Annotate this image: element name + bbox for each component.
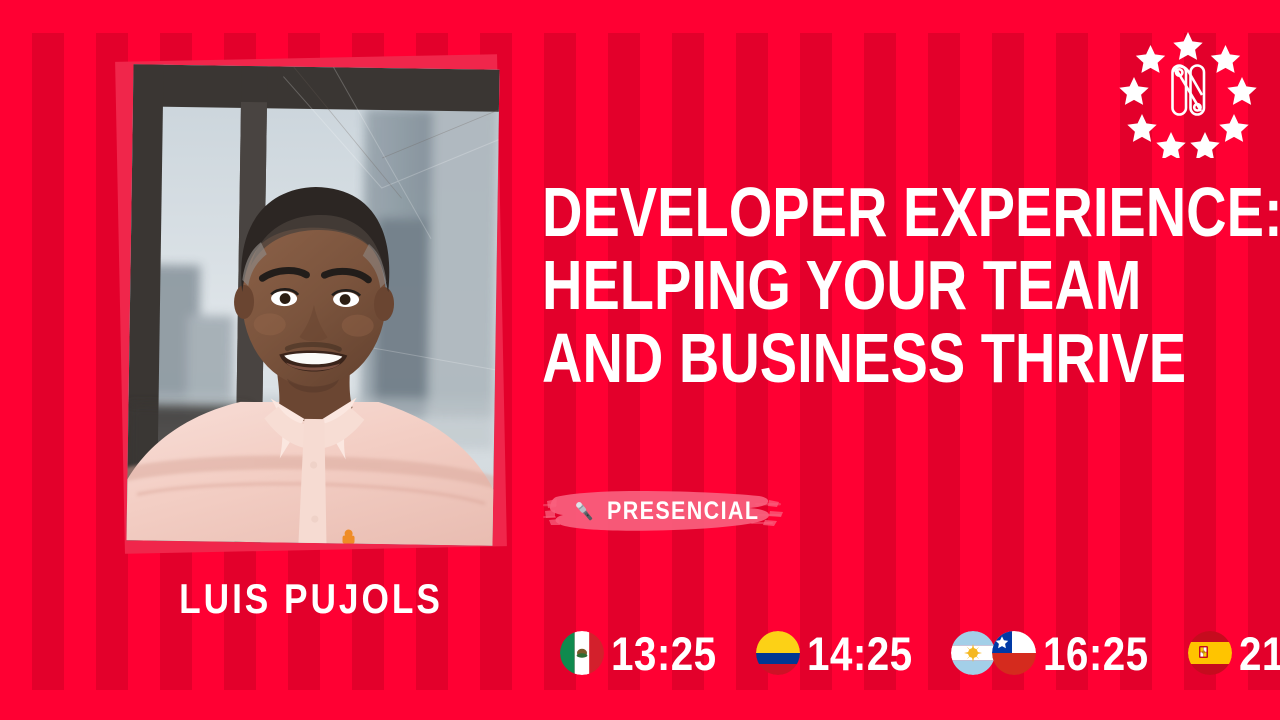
timezone-time: 14:25 <box>807 630 913 677</box>
speaker-photo <box>126 64 499 545</box>
flag-argentina-icon <box>951 631 995 675</box>
timezone-item: 13:25 <box>560 622 734 684</box>
talk-title: DEVELOPER EXPERIENCE: HELPING YOUR TEAM … <box>542 176 1242 395</box>
format-badge-label: PRESENCIAL <box>607 497 759 526</box>
timezone-item: 16:25 <box>951 622 1166 684</box>
flag-chile-icon <box>992 631 1036 675</box>
flag-group <box>1188 631 1232 675</box>
timezone-time: 16:25 <box>1043 630 1149 677</box>
flag-mexico-icon <box>560 631 604 675</box>
talk-title-line-2: HELPING YOUR TEAM <box>542 249 1102 322</box>
timezone-time: 13:25 <box>611 630 717 677</box>
flag-colombia-icon <box>756 631 800 675</box>
flag-group <box>560 631 604 675</box>
format-badge: PRESENCIAL <box>543 487 786 535</box>
slide-canvas: LUIS PUJOLS DEVELOPER EXPERIENCE: HELPIN… <box>0 0 1280 720</box>
timezone-time: 21:25 <box>1239 630 1280 677</box>
speaker-photo-container <box>120 58 502 550</box>
speaker-name: LUIS PUJOLS <box>151 576 472 622</box>
talk-title-line-1: DEVELOPER EXPERIENCE: <box>542 176 1102 249</box>
talk-title-line-3: AND BUSINESS THRIVE <box>542 322 1102 395</box>
microphone-icon <box>571 498 597 524</box>
timezone-item: 21:25 <box>1188 622 1280 684</box>
timezone-item: 14:25 <box>756 622 930 684</box>
flag-spain-icon <box>1188 631 1232 675</box>
timezone-row: 13:25 14:25 <box>560 622 1280 684</box>
flag-group <box>756 631 800 675</box>
flag-group <box>951 631 1036 675</box>
brand-logo <box>1118 22 1258 158</box>
